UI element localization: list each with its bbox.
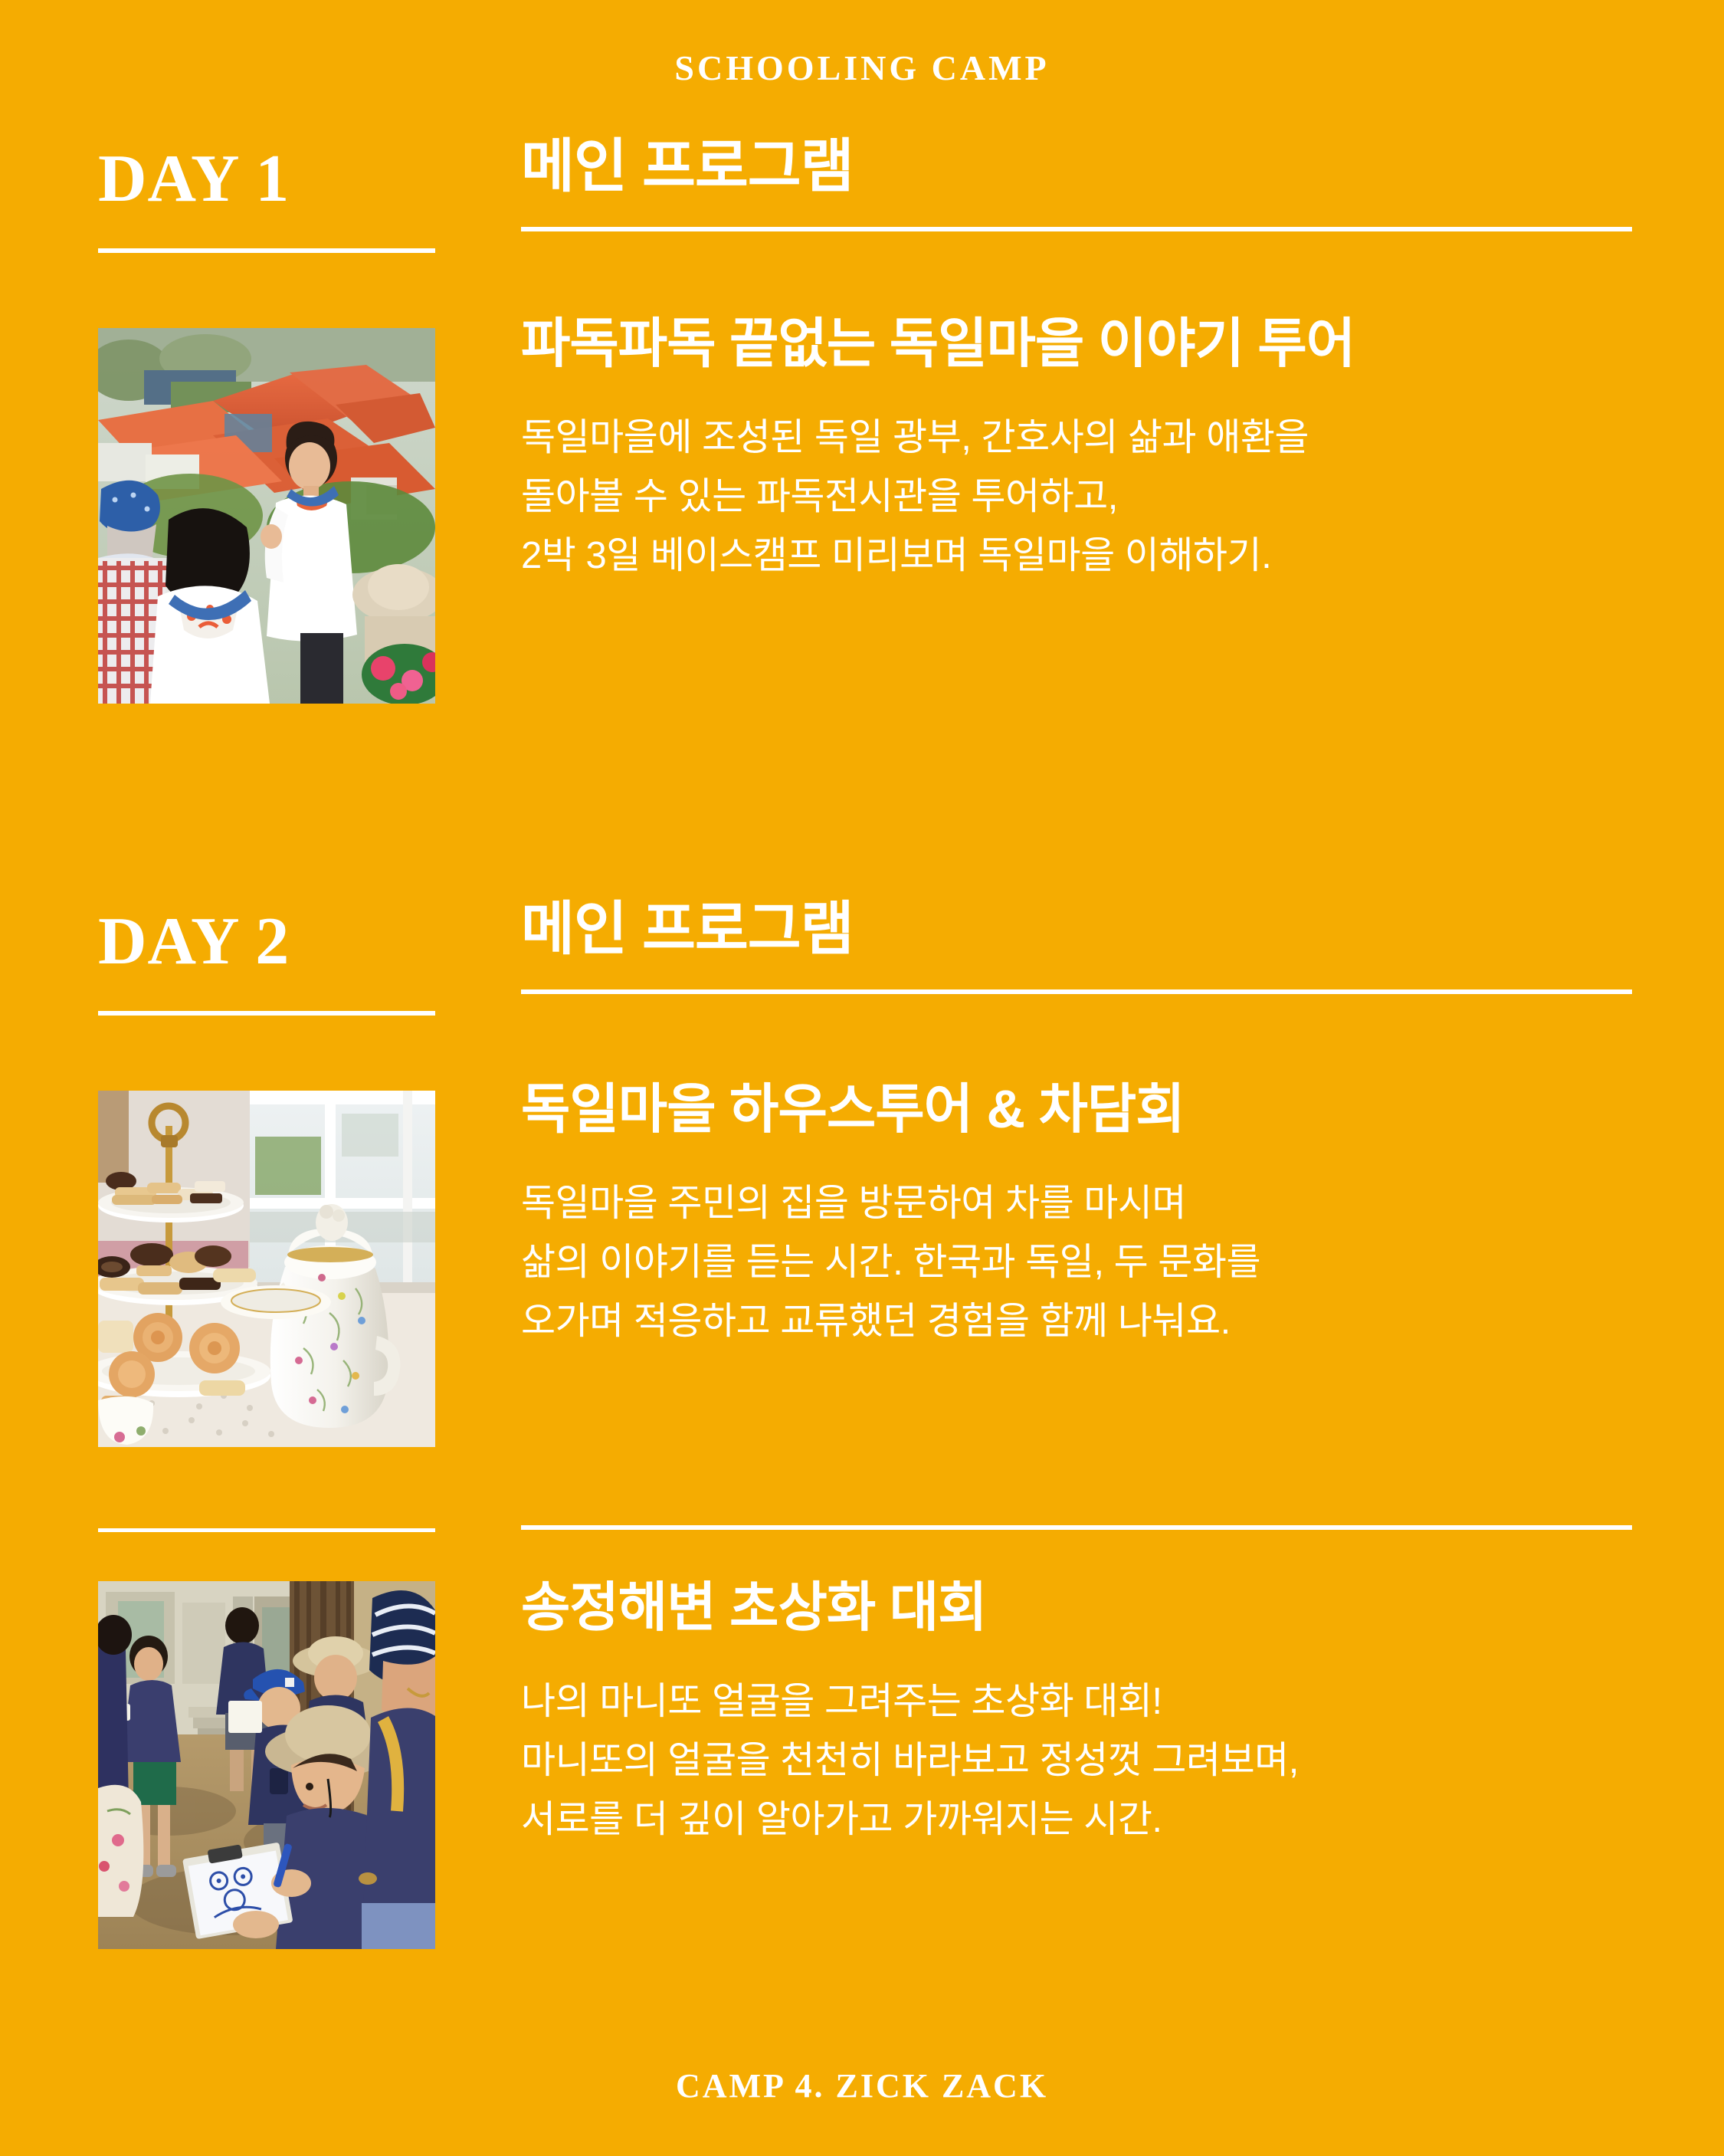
day2-left-rule [98, 1011, 435, 1016]
program-title: 파독파독 끝없는 독일마을 이야기 투어 [521, 313, 1632, 375]
day2-photo-wrapper-1 [98, 1581, 435, 1949]
program-body-line: 서로를 더 깊이 알아가고 가까워지는 시간. [521, 1790, 1632, 1849]
program-body: 나의 마니또 얼굴을 그려주는 초상화 대회! 마니또의 얼굴을 천천히 바라보… [521, 1672, 1632, 1850]
program-body-line: 2박 3일 베이스캠프 미리보며 독일마을 이해하기. [521, 527, 1632, 586]
day2-program-0: 독일마을 하우스투어 & 차담회 독일마을 주민의 집을 방문하여 차를 마시며… [521, 1078, 1632, 1352]
day-label-1: DAY 1 [98, 146, 435, 213]
program-photo-portrait-contest [98, 1581, 435, 1949]
program-title: 송정해변 초상화 대회 [521, 1577, 1632, 1639]
day-label-2: DAY 2 [98, 908, 435, 976]
day2-section-label: 메인 프로그램 [521, 901, 1632, 959]
day2-divider-right [521, 1525, 1632, 1530]
day2-divider-right-wrapper [521, 1525, 1632, 1530]
day1-right-rule [521, 227, 1632, 231]
day1-right-column: 메인 프로그램 [521, 138, 1632, 231]
footer-camp-name: CAMP 4. ZICK ZACK [0, 2066, 1724, 2105]
program-photo-house-tour-tea [98, 1091, 435, 1447]
day2-divider-left [98, 1528, 435, 1532]
program-body-line: 나의 마니또 얼굴을 그려주는 초상화 대회! [521, 1672, 1632, 1731]
program-body-line: 마니또의 얼굴을 천천히 바라보고 정성껏 그려보며, [521, 1731, 1632, 1790]
program-body-line: 오가며 적응하고 교류했던 경험을 함께 나눠요. [521, 1292, 1632, 1351]
day2-right-column: 메인 프로그램 [521, 901, 1632, 994]
program-body: 독일마을 주민의 집을 방문하여 차를 마시며 삶의 이야기를 듣는 시간. 한… [521, 1174, 1632, 1352]
day1-section-label: 메인 프로그램 [521, 138, 1632, 196]
day1-program-0: 파독파독 끝없는 독일마을 이야기 투어 독일마을에 조성된 독일 광부, 간호… [521, 313, 1632, 586]
page-title: SCHOOLING CAMP [0, 48, 1724, 88]
program-body-line: 돌아볼 수 있는 파독전시관을 투어하고, [521, 468, 1632, 527]
program-body-line: 삶의 이야기를 듣는 시간. 한국과 독일, 두 문화를 [521, 1233, 1632, 1292]
program-title: 독일마을 하우스투어 & 차담회 [521, 1078, 1632, 1140]
day2-right-rule [521, 989, 1632, 994]
poster-page: SCHOOLING CAMP DAY 1 메인 프로그램 [0, 0, 1724, 2156]
day2-divider-left-wrapper [98, 1528, 435, 1532]
program-photo-german-village-tour [98, 328, 435, 704]
day1-left-column: DAY 1 [98, 146, 435, 253]
program-body-line: 독일마을에 조성된 독일 광부, 간호사의 삶과 애환을 [521, 409, 1632, 468]
day2-program-1: 송정해변 초상화 대회 나의 마니또 얼굴을 그려주는 초상화 대회! 마니또의… [521, 1577, 1632, 1850]
program-body: 독일마을에 조성된 독일 광부, 간호사의 삶과 애환을 돌아볼 수 있는 파독… [521, 409, 1632, 586]
day1-left-rule [98, 248, 435, 253]
day1-photo-wrapper [98, 328, 435, 704]
day2-left-column: DAY 2 [98, 908, 435, 1016]
program-body-line: 독일마을 주민의 집을 방문하여 차를 마시며 [521, 1174, 1632, 1233]
day2-photo-wrapper-0 [98, 1091, 435, 1447]
